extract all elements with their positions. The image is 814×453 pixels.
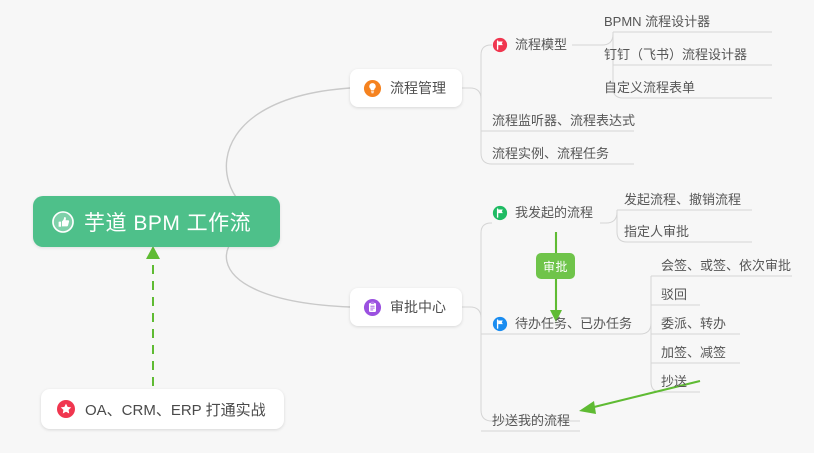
root-node[interactable]: 芋道 BPM 工作流	[33, 196, 280, 247]
leaf-start-cancel-flow[interactable]: 发起流程、撤销流程	[624, 190, 741, 210]
leaf-bpmn-designer-label: BPMN 流程设计器	[604, 12, 710, 32]
link-initiated-stub	[600, 210, 617, 223]
root-label: 芋道 BPM 工作流	[84, 207, 251, 237]
leaf-bpmn-designer[interactable]: BPMN 流程设计器	[604, 12, 710, 32]
flag-icon-green	[492, 205, 508, 221]
node-todo-done-tasks[interactable]: 待办任务、已办任务	[492, 314, 632, 334]
leaf-reject-label: 驳回	[661, 285, 687, 305]
leaf-custom-form-label: 自定义流程表单	[604, 78, 695, 98]
leaf-flow-listener-label: 流程监听器、流程表达式	[492, 111, 635, 131]
leaf-delegate-transfer-label: 委派、转办	[661, 314, 726, 334]
branch-flow-management[interactable]: 流程管理	[350, 69, 462, 107]
flag-icon-red	[492, 37, 508, 53]
leaf-cc-my-flow-label: 抄送我的流程	[492, 411, 570, 431]
tag-approval-label: 审批	[543, 258, 568, 275]
leaf-dingtalk-designer[interactable]: 钉钉（飞书）流程设计器	[604, 45, 747, 65]
leaf-add-remove-sign-label: 加签、减签	[661, 343, 726, 363]
leaf-flow-instance-label: 流程实例、流程任务	[492, 144, 609, 164]
leaf-dingtalk-designer-label: 钉钉（飞书）流程设计器	[604, 45, 747, 65]
link-todo-stub	[636, 276, 651, 334]
link-flow-trunk-top	[481, 45, 492, 99]
arrow-cc-head	[579, 401, 596, 414]
leaf-countersign-label: 会签、或签、依次审批	[661, 256, 791, 276]
branch-flow-management-label: 流程管理	[390, 78, 446, 98]
mindmap-canvas: 芋道 BPM 工作流 流程管理 审批中心	[0, 0, 814, 453]
leaf-assigned-approver-label: 指定人审批	[624, 222, 689, 242]
callout-label: OA、CRM、ERP 打通实战	[85, 399, 266, 420]
branch-approval-center-label: 审批中心	[390, 297, 446, 317]
node-flow-model[interactable]: 流程模型	[492, 35, 567, 55]
leaf-custom-form[interactable]: 自定义流程表单	[604, 78, 695, 98]
callout-integration-practice[interactable]: OA、CRM、ERP 打通实战	[41, 389, 284, 429]
node-todo-done-tasks-label: 待办任务、已办任务	[515, 314, 632, 334]
clipboard-icon	[363, 298, 382, 317]
flag-icon-blue	[492, 316, 508, 332]
link-approval-trunk-top	[481, 223, 492, 318]
leaf-cc-my-flow[interactable]: 抄送我的流程	[492, 411, 570, 431]
leaf-cc[interactable]: 抄送	[661, 372, 687, 392]
leaf-flow-instance[interactable]: 流程实例、流程任务	[492, 144, 609, 164]
node-my-initiated-flow-label: 我发起的流程	[515, 203, 593, 223]
leaf-cc-label: 抄送	[661, 372, 687, 392]
leaf-flow-listener[interactable]: 流程监听器、流程表达式	[492, 111, 635, 131]
leaf-reject[interactable]: 驳回	[661, 285, 687, 305]
tag-approval[interactable]: 审批	[536, 253, 575, 279]
node-my-initiated-flow[interactable]: 我发起的流程	[492, 203, 593, 223]
leaf-assigned-approver[interactable]: 指定人审批	[624, 222, 689, 242]
node-flow-model-label: 流程模型	[515, 35, 567, 55]
thumbs-up-icon	[51, 210, 75, 234]
leaf-delegate-transfer[interactable]: 委派、转办	[661, 314, 726, 334]
leaf-start-cancel-flow-label: 发起流程、撤销流程	[624, 190, 741, 210]
leaf-countersign[interactable]: 会签、或签、依次审批	[661, 256, 791, 276]
arrow-callout-head	[146, 246, 160, 259]
star-icon	[56, 399, 76, 419]
link-flowmodel-stub	[572, 32, 613, 45]
lightbulb-icon	[363, 79, 382, 98]
branch-approval-center[interactable]: 审批中心	[350, 288, 462, 326]
leaf-add-remove-sign[interactable]: 加签、减签	[661, 343, 726, 363]
